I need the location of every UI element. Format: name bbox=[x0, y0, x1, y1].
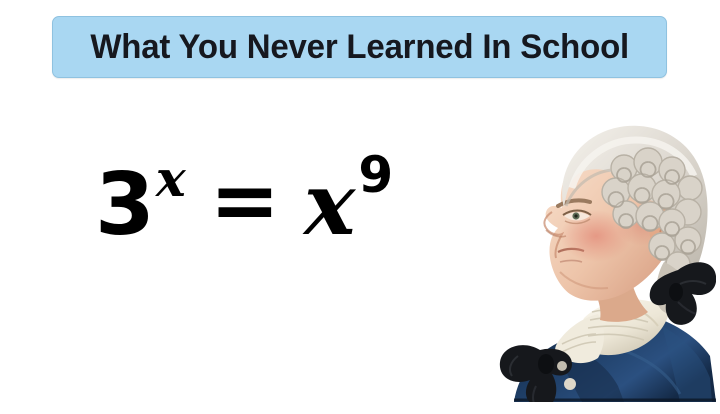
equation-left-base: 3 bbox=[95, 155, 154, 255]
math-equation: 3x = x9 bbox=[95, 138, 390, 248]
equation-right-exponent: 9 bbox=[358, 146, 393, 204]
title-banner: What You Never Learned In School bbox=[52, 16, 667, 78]
equation-left-term: 3x bbox=[95, 162, 184, 248]
scholar-portrait-image bbox=[466, 112, 716, 402]
equation-left-exponent: x bbox=[156, 149, 186, 208]
equation-right-term: x9 bbox=[304, 162, 390, 248]
portrait-svg bbox=[466, 112, 716, 402]
equation-right-base: x bbox=[304, 154, 355, 255]
equals-sign: = bbox=[210, 158, 280, 242]
screenshot-root: What You Never Learned In School 3x = x9 bbox=[0, 0, 720, 414]
page-title: What You Never Learned In School bbox=[90, 30, 629, 64]
